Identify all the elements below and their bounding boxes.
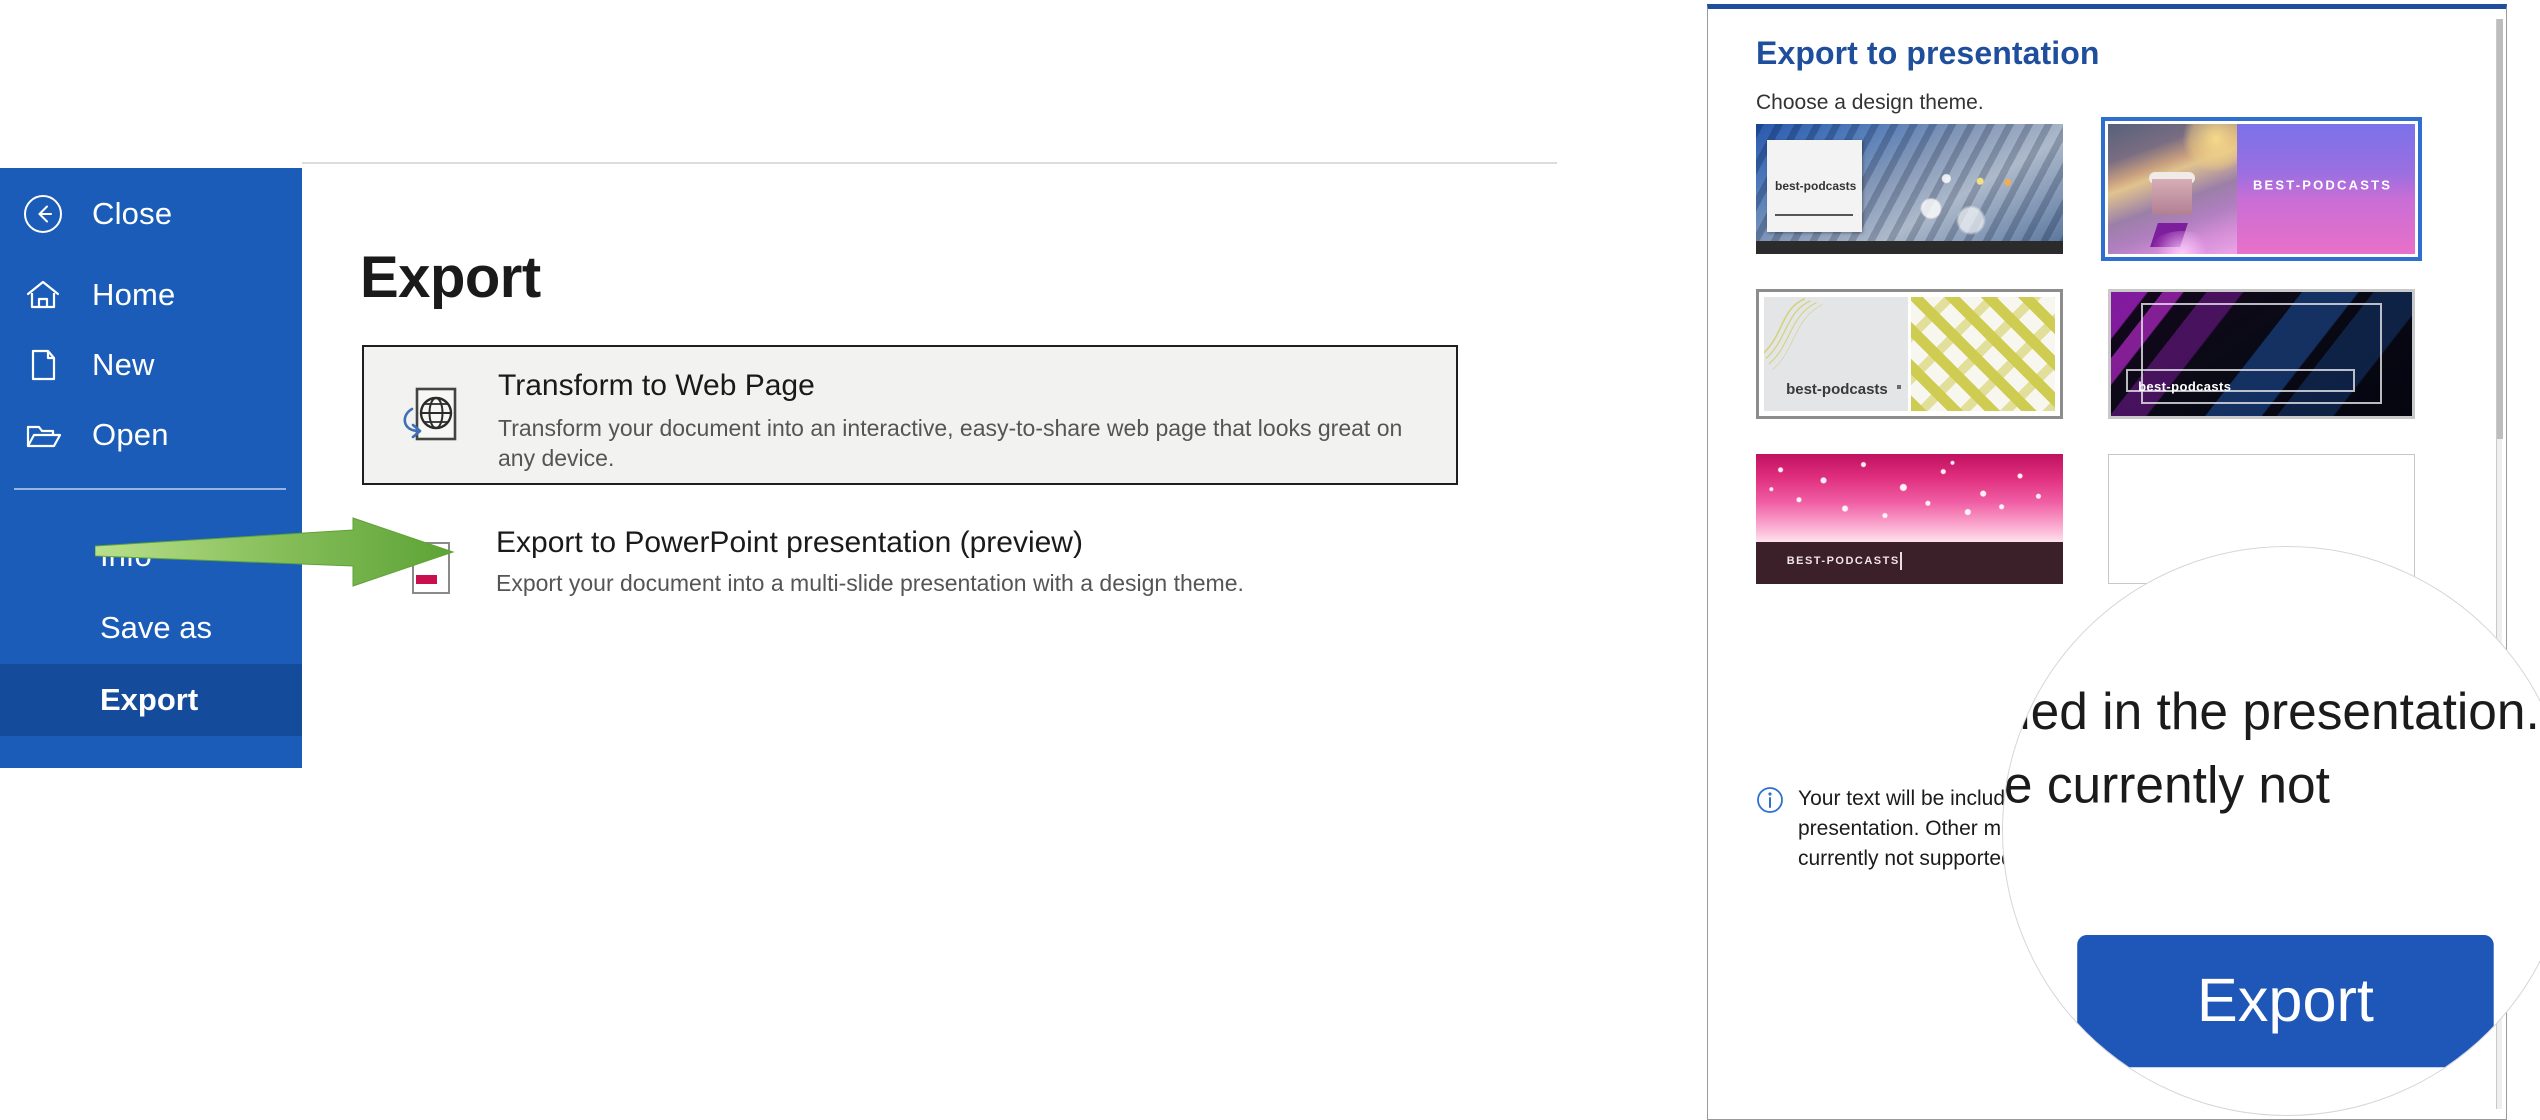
close-button[interactable]: Close (0, 168, 302, 260)
sidebar-item-label: New (92, 347, 155, 383)
magnified-export-button[interactable]: Export (2077, 935, 2494, 1067)
sidebar-item-save-as[interactable]: Save as (0, 592, 302, 664)
sidebar-item-open[interactable]: Open (0, 400, 302, 470)
theme-label: best-podcasts (1775, 180, 1856, 194)
magnified-info-note: Your text will be included in the presen… (2002, 678, 2540, 897)
theme-bottom-band (1756, 241, 2063, 254)
sidebar-item-new[interactable]: New (0, 330, 302, 400)
sidebar-item-label: Home (92, 277, 176, 313)
backstage-navigation: Close Home New (0, 168, 302, 768)
option-transform-to-web-page[interactable]: Transform to Web Page Transform your doc… (362, 345, 1458, 485)
option-title: Transform to Web Page (498, 369, 815, 403)
web-page-globe-icon (399, 383, 461, 453)
sidebar-item-home[interactable]: Home (0, 260, 302, 330)
theme-right-pattern (1911, 297, 2055, 411)
sidebar-item-label: Export (100, 682, 198, 718)
theme-label: best-podcasts (1786, 381, 1888, 398)
back-circle-arrow-icon (22, 193, 64, 235)
powerpoint-icon (397, 538, 459, 608)
panel-subtitle: Choose a design theme. (1756, 91, 1984, 115)
option-export-to-powerpoint[interactable]: Export to PowerPoint presentation (previ… (362, 520, 1458, 640)
info-circle-icon (1756, 786, 1784, 814)
theme-title-card: best-podcasts (1767, 140, 1862, 232)
theme-mic-body (2152, 179, 2192, 215)
theme-thumbnail-purple-gradient[interactable]: BEST-PODCASTS (2108, 124, 2415, 254)
theme-underline (1775, 214, 1853, 216)
panel-scrollbar-thumb[interactable] (2497, 19, 2503, 439)
theme-curve-lines (1764, 297, 1890, 371)
theme-thumbnail-lime-lines[interactable]: best-podcasts (1756, 289, 2063, 419)
open-folder-icon (22, 414, 64, 456)
theme-caret (1900, 552, 1902, 570)
sidebar-item-label: Open (92, 417, 169, 453)
theme-photo-half (2108, 124, 2237, 254)
theme-dot (1897, 385, 1901, 389)
option-title: Export to PowerPoint presentation (previ… (496, 526, 1083, 560)
sidebar-item-label: Save as (100, 610, 212, 646)
theme-label: BEST-PODCASTS (2253, 178, 2392, 193)
content-top-rule (302, 162, 1557, 164)
theme-label: BEST-PODCASTS (1787, 555, 1900, 567)
sidebar-divider (14, 488, 286, 490)
option-description: Transform your document into an interact… (498, 413, 1403, 474)
theme-thumbnail-mixing-console[interactable]: best-podcasts (1756, 124, 2063, 254)
new-document-icon (22, 344, 64, 386)
magnified-info-text: Your text will be included in the presen… (2002, 678, 2540, 897)
magnifier-content: Your text will be included in the presen… (2002, 546, 2540, 1116)
magnifier-circle: Your text will be included in the presen… (2002, 546, 2540, 1116)
screenshot-root: Close Home New (0, 0, 2540, 1120)
theme-gradient-half: BEST-PODCASTS (2237, 124, 2415, 254)
option-description: Export your document into a multi-slide … (496, 568, 1401, 598)
home-icon (22, 274, 64, 316)
sidebar-item-export[interactable]: Export (0, 664, 302, 736)
theme-thumbnail-dark-neon[interactable]: best-podcasts (2108, 289, 2415, 419)
panel-title: Export to presentation (1756, 35, 2100, 72)
sidebar-item-label: Info (100, 538, 152, 574)
theme-background: BEST-PODCASTS (2108, 124, 2415, 254)
theme-bokeh-dots (1756, 454, 2063, 542)
theme-label: best-podcasts (2138, 379, 2231, 394)
page-title: Export (360, 244, 541, 311)
sidebar-item-info[interactable]: Info (0, 520, 302, 592)
close-label: Close (92, 196, 172, 232)
